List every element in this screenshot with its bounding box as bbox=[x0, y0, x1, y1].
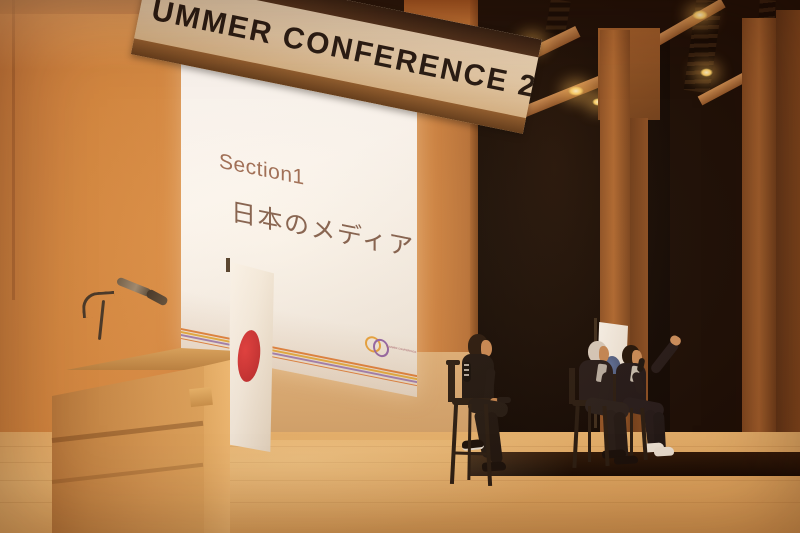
podium-side-panel bbox=[200, 360, 230, 533]
dress-shoe bbox=[614, 455, 638, 464]
stool-backrest bbox=[448, 362, 455, 402]
sleeve-print bbox=[464, 364, 469, 378]
stool-leg bbox=[630, 408, 633, 456]
podium-corner-cap bbox=[189, 387, 213, 407]
stage-light-icon bbox=[692, 10, 708, 20]
stage-photo-scene: JCI JUNIOR CHAMBER INTERNATIONAL Section… bbox=[0, 0, 800, 533]
stage-light-icon bbox=[568, 86, 584, 96]
podium-front-panel bbox=[52, 366, 204, 533]
slide-footer-logo-text: SUMMER CONFERENCE bbox=[386, 345, 416, 354]
japanese-flag-pole bbox=[226, 258, 230, 272]
architectural-pier bbox=[776, 10, 800, 470]
slide-footer-logo: SUMMER CONFERENCE bbox=[365, 333, 399, 360]
stool-leg bbox=[588, 406, 591, 462]
sneaker bbox=[482, 461, 507, 472]
podium-lectern bbox=[52, 330, 230, 533]
slide-title: 日本のメディアと政治 bbox=[231, 192, 417, 281]
stool-backrest bbox=[569, 368, 575, 404]
white-sneaker bbox=[654, 446, 674, 456]
slide-section-label: Section1 bbox=[219, 150, 305, 191]
stage-light-icon bbox=[700, 68, 713, 77]
architectural-pier bbox=[742, 18, 776, 470]
